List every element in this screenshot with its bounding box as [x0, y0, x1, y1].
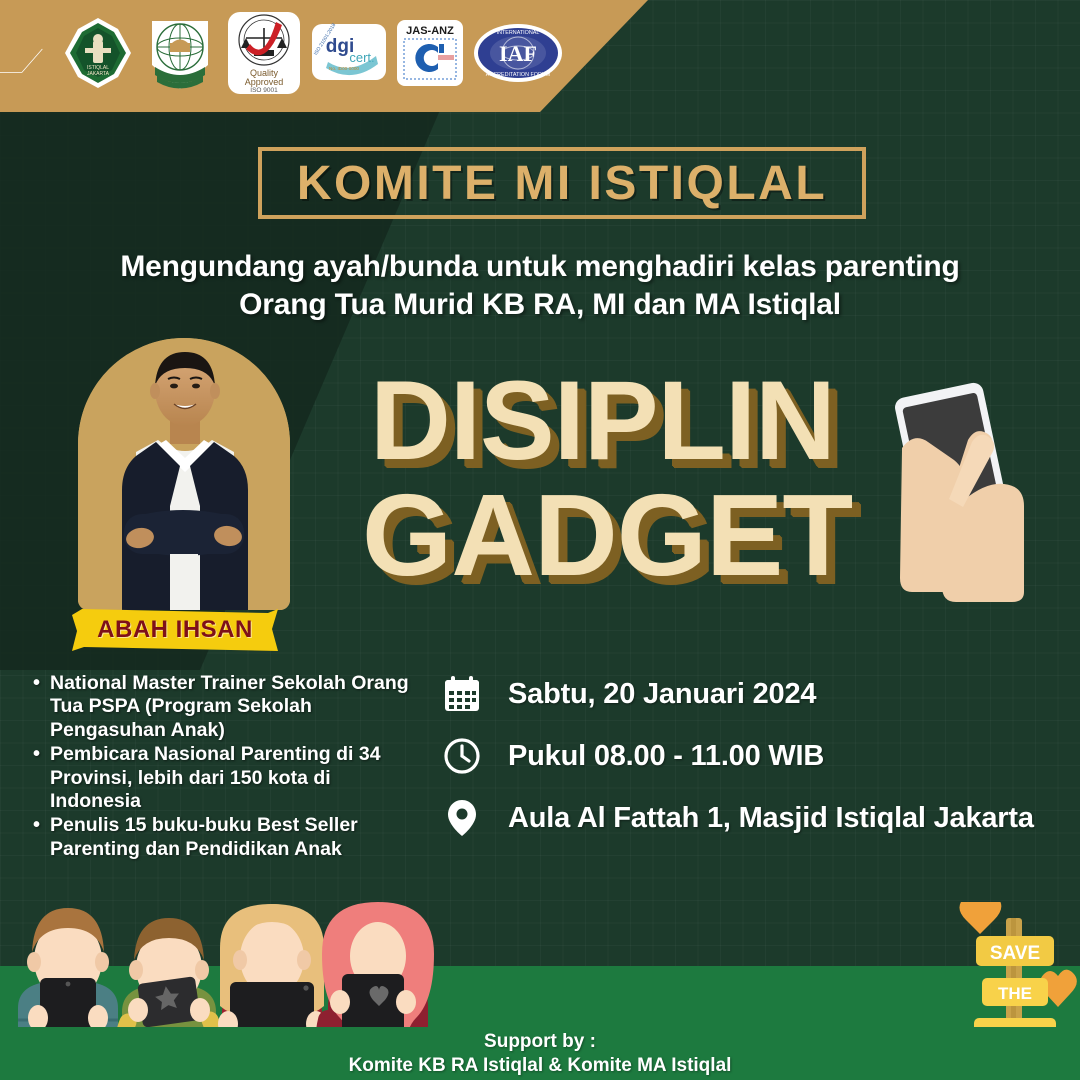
speaker-credentials-list: National Master Trainer Sekolah Orang Tu…: [30, 672, 410, 862]
speaker-name-ribbon: ABAH IHSAN: [72, 609, 278, 651]
svg-text:INTERNATIONAL: INTERNATIONAL: [497, 30, 540, 36]
poster-root: ISTIQLAL JAKARTA: [0, 0, 1080, 1080]
svg-text:IAF: IAF: [499, 41, 537, 66]
headline-line-1: DISIPLIN: [370, 368, 835, 474]
list-item: Penulis 15 buku-buku Best Seller Parenti…: [30, 814, 410, 861]
event-location-text: Aula Al Fattah 1, Masjid Istiqlal Jakart…: [508, 802, 1034, 835]
dgi-cert-logo: dgi cert. ISO 21001:2018 No. ID00-0000: [310, 20, 388, 86]
speaker-name: ABAH IHSAN: [97, 616, 253, 644]
list-item: National Master Trainer Sekolah Orang Tu…: [30, 672, 410, 742]
invitation-subtitle: Mengundang ayah/bunda untuk menghadiri k…: [0, 248, 1080, 325]
event-time-text: Pukul 08.00 - 11.00 WIB: [508, 740, 824, 773]
event-date-text: Sabtu, 20 Januari 2024: [508, 678, 816, 711]
hand-holding-phone-illustration: [872, 368, 1072, 618]
footer-support-bar: Support by : Komite KB RA Istiqlal & Kom…: [0, 1027, 1080, 1080]
subtitle-line-1: Mengundang ayah/bunda untuk menghadiri k…: [0, 248, 1080, 286]
speaker-photo-arch: [78, 338, 290, 610]
svg-text:No. ID00-0000: No. ID00-0000: [329, 66, 359, 71]
jas-anz-logo: JAS-ANZ: [394, 17, 466, 89]
madrasah-istiqlal-jakarta-globe-logo: [142, 15, 218, 91]
event-date-row: Sabtu, 20 Januari 2024: [440, 672, 1050, 716]
speaker-photo: [78, 338, 290, 610]
location-pin-icon: [440, 796, 484, 840]
event-time-row: Pukul 08.00 - 11.00 WIB: [440, 734, 1050, 778]
event-location-row: Aula Al Fattah 1, Masjid Istiqlal Jakart…: [440, 796, 1050, 840]
clock-icon: [440, 734, 484, 778]
main-headline: DISIPLIN GADGET: [352, 368, 852, 608]
svg-text:JAKARTA: JAKARTA: [87, 71, 110, 77]
children-with-tablets-illustration: [0, 890, 450, 1050]
footer-line-2: Komite KB RA Istiqlal & Komite MA Istiql…: [349, 1054, 732, 1078]
calendar-icon: [440, 672, 484, 716]
signpost-text-the: THE: [998, 984, 1032, 1003]
list-item: Pembicara Nasional Parenting di 34 Provi…: [30, 743, 410, 813]
event-details: Sabtu, 20 Januari 2024 Pukul 08.00 - 11.…: [440, 672, 1050, 840]
svg-text:ISO 9001: ISO 9001: [250, 87, 278, 94]
accreditation-logo-row: ISTIQLAL JAKARTA: [60, 10, 564, 96]
signpost-text-save: SAVE: [990, 943, 1040, 964]
svg-text:ACCREDITATION FORUM: ACCREDITATION FORUM: [486, 72, 551, 78]
quality-approved-iso-9001-logo: Quality Approved ISO 9001: [224, 10, 304, 96]
footer-line-1: Support by :: [484, 1030, 596, 1054]
svg-text:JAS-ANZ: JAS-ANZ: [406, 25, 454, 37]
subtitle-line-2: Orang Tua Murid KB RA, MI dan MA Istiqla…: [0, 286, 1080, 324]
headline-line-2: GADGET: [362, 480, 852, 590]
page-title: KOMITE MI ISTIQLAL: [297, 156, 827, 211]
istiqlal-jakarta-star-logo: ISTIQLAL JAKARTA: [60, 15, 136, 91]
komite-title-box: KOMITE MI ISTIQLAL: [258, 147, 866, 219]
iaf-international-accreditation-forum-logo: IAF INTERNATIONAL ACCREDITATION FORUM: [472, 22, 564, 84]
svg-text:Approved: Approved: [245, 77, 284, 87]
